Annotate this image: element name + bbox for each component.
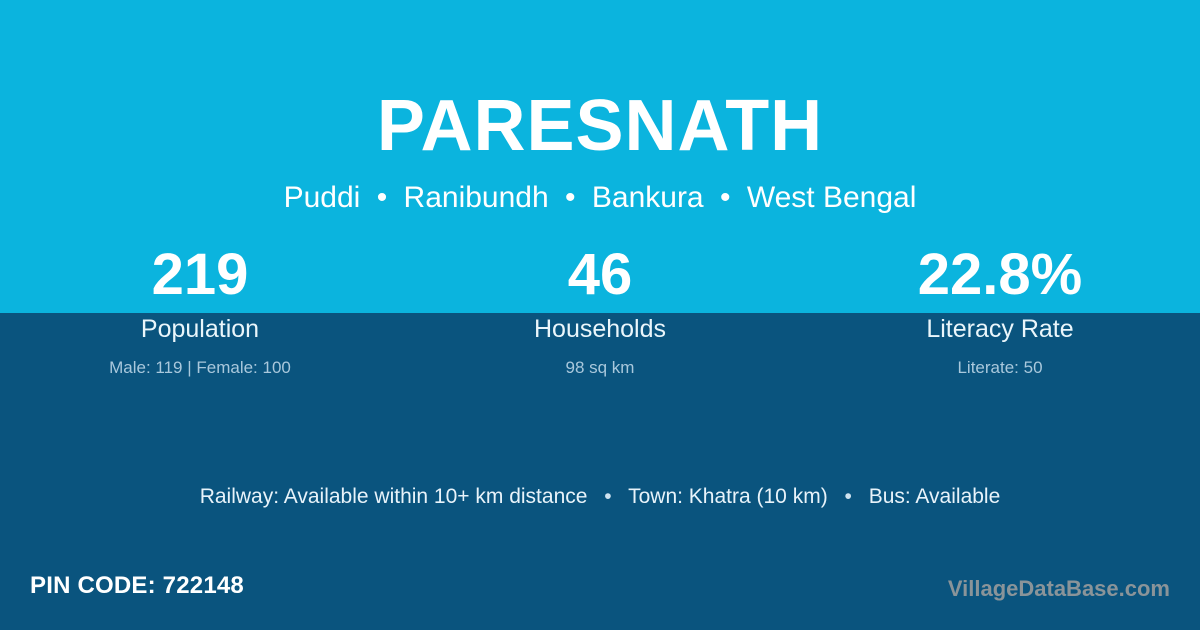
stat-value: 219 (0, 244, 400, 306)
breadcrumb-state: West Bengal (747, 181, 917, 214)
breadcrumb-village: Puddi (284, 181, 361, 214)
stat-label: Literacy Rate (800, 317, 1200, 342)
stat-literacy-rate: 22.8% Literacy Rate Literate: 50 (800, 244, 1200, 376)
breadcrumb-separator-icon: • (557, 181, 584, 214)
amenity-bus: Bus: Available (869, 485, 1001, 508)
site-brand: VillageDataBase.com (948, 578, 1170, 600)
stat-label: Households (400, 317, 800, 342)
amenity-separator-icon: • (593, 485, 622, 508)
breadcrumb: Puddi • Ranibundh • Bankura • West Benga… (0, 183, 1200, 213)
page-title: PARESNATH (0, 90, 1200, 162)
village-info-card: PARESNATH Puddi • Ranibundh • Bankura • … (0, 0, 1200, 630)
amenity-separator-icon: • (834, 485, 863, 508)
amenity-town: Town: Khatra (10 km) (628, 485, 828, 508)
stat-households: 46 Households 98 sq km (400, 244, 800, 376)
stat-sublabel: Literate: 50 (800, 359, 1200, 376)
stat-sublabel: Male: 119 | Female: 100 (0, 359, 400, 376)
amenity-railway: Railway: Available within 10+ km distanc… (200, 485, 588, 508)
stat-value: 46 (400, 244, 800, 306)
breadcrumb-separator-icon: • (712, 181, 739, 214)
stat-population: 219 Population Male: 119 | Female: 100 (0, 244, 400, 376)
pin-code: PIN CODE: 722148 (30, 574, 244, 598)
amenities-row: Railway: Available within 10+ km distanc… (0, 486, 1200, 507)
stat-value: 22.8% (800, 244, 1200, 306)
stat-sublabel: 98 sq km (400, 359, 800, 376)
stat-label: Population (0, 317, 400, 342)
breadcrumb-block: Ranibundh (404, 181, 549, 214)
breadcrumb-district: Bankura (592, 181, 704, 214)
breadcrumb-separator-icon: • (369, 181, 396, 214)
stats-row: 219 Population Male: 119 | Female: 100 4… (0, 244, 1200, 376)
